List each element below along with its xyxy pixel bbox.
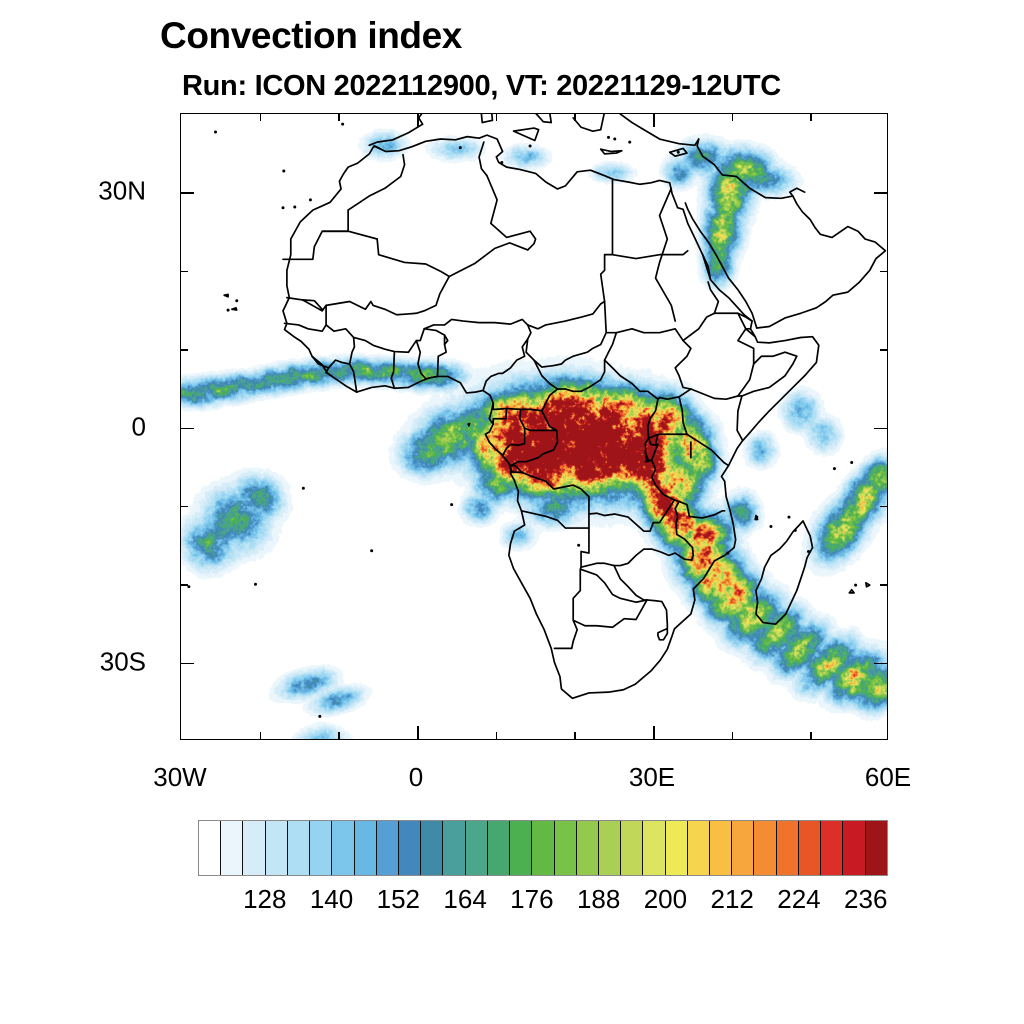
colorbar-cell (355, 821, 377, 875)
island-marker (450, 503, 453, 506)
y-axis-labels: 30N030S (0, 113, 168, 740)
border-path (326, 360, 350, 379)
colorbar-tick-labels: 128140152164176188200212224236 (198, 884, 888, 920)
y-axis-tick-label: 0 (132, 411, 146, 442)
border-path (703, 255, 711, 280)
border-path (601, 149, 622, 154)
axis-tick (880, 271, 887, 273)
island-marker (214, 130, 217, 133)
border-path (737, 396, 743, 441)
axis-tick (338, 114, 340, 121)
island-marker (833, 467, 836, 470)
border-path (866, 583, 870, 587)
colorbar-cell (599, 821, 621, 875)
colorbar-tick-label: 152 (377, 884, 420, 915)
x-axis-labels: 30W030E60E (180, 762, 888, 802)
border-path (685, 203, 756, 328)
island-marker (787, 516, 790, 519)
border-path (514, 128, 539, 140)
border-path (479, 142, 487, 176)
axis-tick (260, 114, 262, 121)
island-marker (769, 525, 772, 528)
border-path (691, 389, 742, 399)
island-marker (613, 138, 616, 141)
colorbar-cell (377, 821, 399, 875)
border-path (605, 360, 660, 399)
axis-tick (574, 114, 576, 121)
border-path (757, 188, 886, 328)
island-marker (726, 552, 729, 555)
border-path (697, 139, 793, 198)
border-path (354, 329, 445, 352)
border-path (573, 600, 647, 627)
border-path (658, 629, 667, 640)
island-marker (227, 309, 230, 312)
border-path (601, 255, 613, 302)
border-path (606, 329, 691, 389)
y-axis-tick-label: 30S (100, 646, 146, 677)
axis-tick (181, 663, 194, 665)
colorbar (198, 820, 888, 876)
colorbar-cell (488, 821, 510, 875)
island-marker (235, 299, 238, 302)
axis-tick (181, 506, 188, 508)
island-marker (854, 584, 857, 587)
colorbar-tick-label: 164 (443, 884, 486, 915)
axis-tick (732, 114, 734, 121)
colorbar-tick-label: 212 (710, 884, 753, 915)
axis-tick (496, 114, 498, 121)
colorbar-cell (443, 821, 465, 875)
border-path (581, 500, 674, 567)
island-marker (850, 461, 853, 464)
colorbar-cell (199, 821, 221, 875)
colorbar-cell (777, 821, 799, 875)
border-path (424, 319, 528, 328)
border-path (493, 409, 506, 425)
island-marker (607, 136, 610, 139)
island-marker (309, 198, 312, 201)
border-path (348, 231, 377, 239)
border-path (521, 511, 589, 528)
border-path (580, 563, 614, 569)
axis-tick (880, 349, 887, 351)
border-path (503, 428, 525, 455)
border-path (614, 549, 692, 565)
colorbar-tick-label: 236 (844, 884, 887, 915)
x-axis-tick-label: 60E (865, 762, 911, 793)
colorbar-tick-label: 128 (243, 884, 286, 915)
border-path (652, 460, 679, 501)
x-axis-tick-label: 30E (629, 762, 675, 793)
border-path (647, 600, 667, 634)
border-path (510, 389, 557, 466)
colorbar-tick-label: 176 (510, 884, 553, 915)
axis-tick (874, 663, 887, 665)
map-plot-area (180, 113, 888, 740)
border-path (683, 313, 752, 340)
island-marker (318, 715, 321, 718)
border-path (612, 251, 687, 259)
axis-tick (810, 114, 812, 121)
colorbar-cell (666, 821, 688, 875)
border-path (649, 434, 687, 437)
island-marker (807, 550, 810, 553)
page-title: Convection index (160, 17, 462, 54)
island-marker (459, 146, 462, 149)
axis-tick (181, 192, 194, 194)
axis-tick (338, 732, 340, 739)
border-path (573, 114, 742, 131)
border-path (391, 352, 394, 389)
colorbar-cell (399, 821, 421, 875)
colorbar-cell (221, 821, 243, 875)
colorbar-cell (243, 821, 265, 875)
island-marker (794, 529, 797, 532)
axis-tick (574, 732, 576, 739)
colorbar-cell (510, 821, 532, 875)
border-path (468, 423, 470, 425)
axis-tick (417, 726, 419, 739)
colorbar-cell (643, 821, 665, 875)
axis-tick (880, 506, 887, 508)
colorbar-cell (821, 821, 843, 875)
axis-tick (653, 726, 655, 739)
border-path (481, 114, 493, 123)
colorbar-cell (754, 821, 776, 875)
border-path (554, 569, 580, 648)
colorbar-cell (710, 821, 732, 875)
island-marker (282, 206, 285, 209)
island-marker (293, 206, 296, 209)
axis-tick (496, 732, 498, 739)
colorbar-cell (532, 821, 554, 875)
colorbar-tick-label: 200 (644, 884, 687, 915)
border-path (738, 352, 797, 396)
island-marker (500, 161, 503, 164)
border-path (756, 521, 813, 624)
border-path (429, 376, 438, 378)
island-marker (282, 170, 285, 173)
run-valid-time-subtitle: Run: ICON 2022112900, VT: 20221129-12UTC (182, 72, 781, 101)
border-path (512, 472, 589, 514)
colorbar-cell (866, 821, 887, 875)
border-path (614, 566, 647, 600)
island-marker (577, 544, 580, 547)
border-path (648, 399, 658, 437)
colorbar-cell (466, 821, 488, 875)
border-path (483, 325, 531, 391)
colorbar-cell (799, 821, 821, 875)
colorbar-cell (621, 821, 643, 875)
island-marker (755, 516, 758, 519)
x-axis-tick-label: 0 (409, 762, 423, 793)
border-path (620, 114, 698, 145)
border-path (679, 501, 725, 517)
border-path (416, 341, 429, 379)
axis-tick (181, 349, 188, 351)
island-marker (529, 145, 532, 148)
border-path (675, 501, 693, 560)
border-path (232, 308, 237, 310)
y-axis-tick-label: 30N (98, 176, 146, 207)
colorbar-tick-label: 188 (577, 884, 620, 915)
border-path (449, 176, 535, 277)
colorbar-cell (555, 821, 577, 875)
axis-tick (653, 114, 655, 127)
colorbar-cell (577, 821, 599, 875)
axis-tick (181, 584, 188, 586)
island-marker (628, 141, 631, 144)
x-axis-tick-label: 30W (153, 762, 206, 793)
colorbar-cell (332, 821, 354, 875)
colorbar-tick-label: 140 (310, 884, 353, 915)
island-marker (341, 123, 344, 126)
colorbar-cell (732, 821, 754, 875)
border-path (849, 590, 854, 593)
colorbar-cell (288, 821, 310, 875)
colorbar-cell (843, 821, 865, 875)
convection-index-figure: Convection index Run: ICON 2022112900, V… (0, 0, 1024, 1024)
colorbar-cell (421, 821, 443, 875)
border-path (679, 397, 728, 466)
colorbar-cell (266, 821, 288, 875)
border-path (377, 239, 449, 276)
border-path (534, 333, 616, 392)
island-marker (370, 549, 373, 552)
border-path (660, 389, 691, 399)
axis-tick (810, 732, 812, 739)
axis-tick (417, 114, 419, 127)
axis-tick (260, 732, 262, 739)
axis-tick (880, 584, 887, 586)
axis-tick (874, 192, 887, 194)
colorbar-cells (198, 820, 888, 876)
border-path (287, 276, 449, 314)
island-marker (254, 583, 257, 586)
border-path (580, 569, 647, 602)
country-borders-overlay (181, 114, 887, 739)
border-path (528, 302, 605, 329)
axis-tick (874, 428, 887, 430)
border-path (437, 335, 447, 376)
border-path (224, 294, 228, 296)
colorbar-cell (310, 821, 332, 875)
axis-tick (181, 271, 188, 273)
island-marker (302, 487, 305, 490)
colorbar-cell (688, 821, 710, 875)
axis-tick (181, 428, 194, 430)
axis-tick (732, 732, 734, 739)
island-marker (677, 151, 680, 154)
colorbar-tick-label: 224 (777, 884, 820, 915)
